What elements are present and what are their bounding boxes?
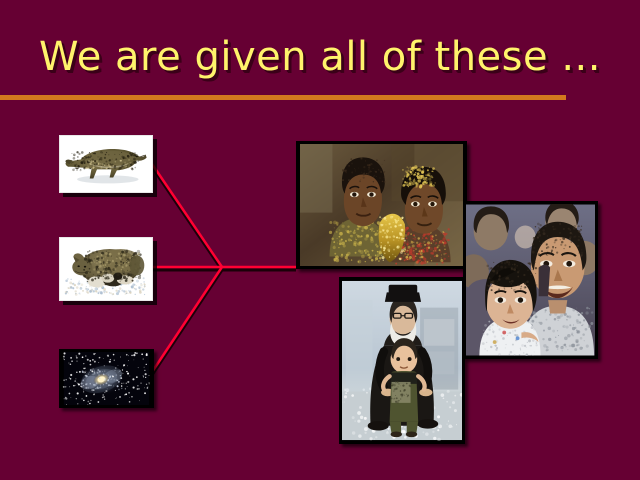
wildcat-photo	[59, 237, 153, 301]
lizard-photo	[59, 135, 153, 193]
lizard-photo-image	[60, 136, 152, 192]
asian-children-photo	[463, 201, 598, 359]
priest-and-child-photo-image	[342, 280, 462, 441]
priest-and-child-photo	[339, 277, 465, 444]
asian-children-photo-image	[466, 204, 595, 356]
title-divider-rule	[0, 95, 566, 100]
slide: We are given all of these ...	[0, 0, 640, 480]
wildcat-photo-image	[60, 238, 152, 300]
galaxy-photo	[59, 349, 154, 408]
galaxy-photo-image	[62, 352, 151, 405]
african-girls-photo-image	[299, 144, 464, 266]
african-girls-photo	[296, 141, 467, 269]
